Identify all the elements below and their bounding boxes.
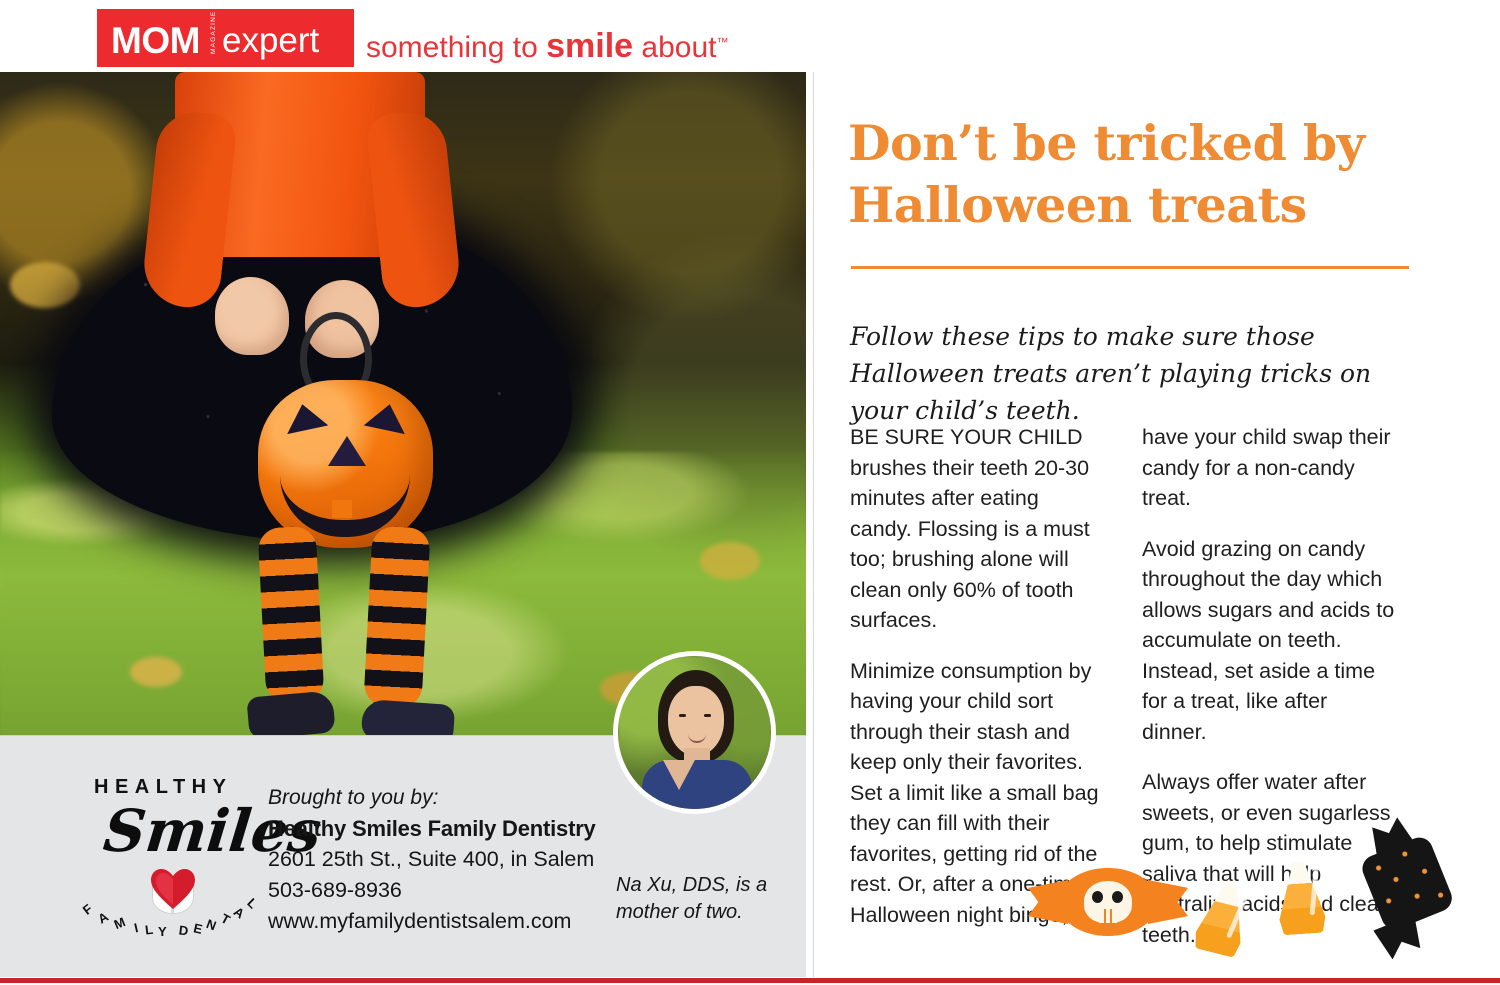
pumpkin-tooth	[332, 500, 352, 518]
practice-address: 2601 25th St., Suite 400, in Salem	[268, 844, 598, 875]
tagline-pre: something to	[366, 31, 546, 64]
tagline-bold: smile	[546, 27, 633, 65]
trademark-symbol: ™	[716, 35, 728, 49]
candy-corn-body	[1192, 878, 1254, 959]
doctor-right-eye	[704, 714, 711, 717]
masthead: MOM MAGAZINE expert something to smile a…	[0, 0, 1500, 72]
skull-teeth	[1099, 909, 1117, 923]
candy-decorations	[1020, 840, 1420, 950]
paragraph: have your child swap their candy for a n…	[1142, 422, 1397, 514]
sponsor-contact-block: Brought to you by: Healthy Smiles Family…	[268, 783, 598, 937]
doctor-avatar	[613, 651, 776, 814]
masthead-tagline: something to smile about™	[366, 26, 728, 64]
child-right-leg-striped-tights	[363, 526, 430, 709]
practice-website[interactable]: www.myfamilydentistsalem.com	[268, 906, 598, 937]
skull-left-eye	[1092, 891, 1103, 903]
practice-phone[interactable]: 503-689-8936	[268, 875, 598, 906]
logo-healthy-text: HEALTHY	[94, 776, 232, 799]
candy-corn-body	[1276, 860, 1327, 935]
child-left-hand	[215, 277, 289, 355]
leaf-blur-3	[130, 657, 182, 687]
brand-expert-text: expert	[222, 23, 319, 58]
child-left-leg-striped-tights	[257, 526, 324, 704]
brand-mom-text: MOM	[111, 22, 200, 59]
skull-candy-icon	[1028, 868, 1188, 936]
doctor-caption: Na Xu, DDS, is a mother of two.	[616, 872, 806, 926]
skull-right-eye	[1112, 891, 1123, 903]
pumpkin-right-eye	[364, 400, 410, 434]
tagline-post: about	[633, 31, 716, 64]
paragraph: Avoid grazing on candy throughout the da…	[1142, 534, 1397, 748]
hero-photo	[0, 72, 806, 735]
dark-candy-wrapper-bottom	[1373, 914, 1427, 962]
advertorial-page: MOM MAGAZINE expert something to smile a…	[0, 0, 1500, 985]
doctor-v-neckline	[663, 760, 695, 790]
headline-line-2: Halloween treats	[848, 174, 1418, 236]
jack-o-lantern-bucket	[258, 380, 433, 548]
page-title: Don’t be tricked by Halloween treats	[848, 112, 1418, 236]
bottom-rule	[0, 978, 1500, 983]
practice-name: Healthy Smiles Family Dentistry	[268, 813, 598, 844]
candy-corn-icon	[1192, 878, 1254, 959]
child-left-shoe	[246, 690, 335, 735]
pumpkin-nose	[328, 436, 366, 466]
doctor-left-eye	[679, 714, 686, 717]
doctor-smile	[688, 734, 706, 743]
headline-line-1: Don’t be tricked by	[848, 112, 1418, 174]
leaf-blur-2	[700, 542, 760, 580]
paragraph: BE SURE YOUR CHILD brushes their teeth 2…	[850, 422, 1105, 636]
article-deck: Follow these tips to make sure those Hal…	[850, 318, 1425, 429]
leaf-blur-1	[10, 262, 80, 308]
logo-family-dental-arc: F A M I L Y D E N T A L	[86, 896, 261, 930]
doctor-scrubs	[642, 760, 752, 814]
pumpkin-left-eye	[282, 400, 328, 434]
brand-magazine-vertical-text: MAGAZINE	[210, 26, 217, 54]
child-right-shoe	[361, 699, 456, 735]
headline-rule	[851, 266, 1409, 269]
doctor-face	[668, 686, 724, 756]
vertical-divider	[813, 72, 814, 977]
candy-corn-icon	[1276, 860, 1327, 935]
skull-icon	[1084, 881, 1132, 923]
brought-to-you-by-label: Brought to you by:	[268, 783, 598, 813]
healthy-smiles-logo: HEALTHY Smiles F A M I L Y D E N T A L	[88, 776, 258, 926]
